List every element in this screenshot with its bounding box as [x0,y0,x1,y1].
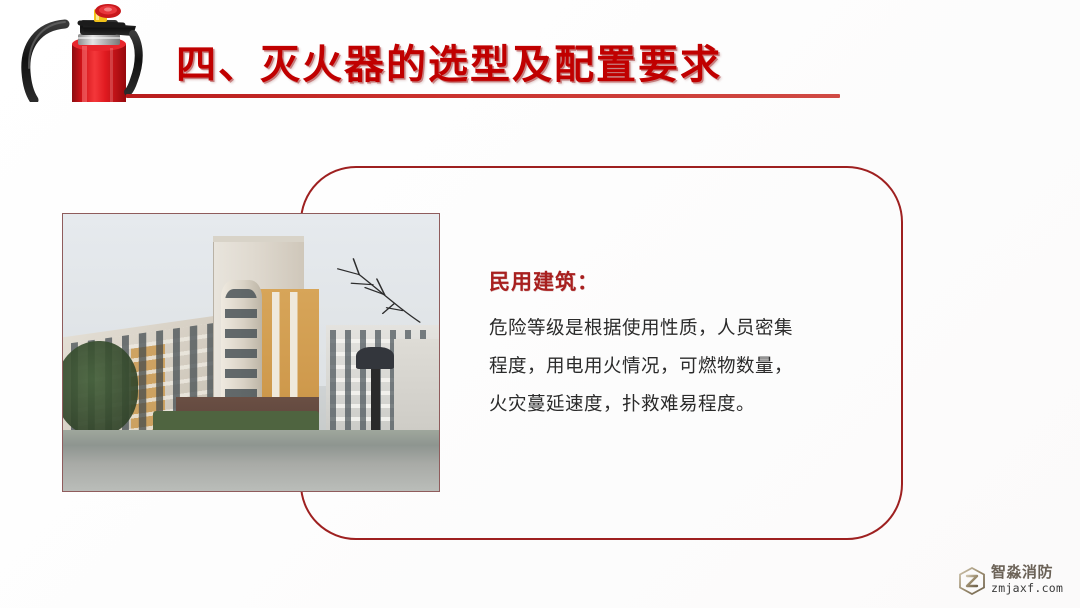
photo-street-lamp-head [356,347,394,369]
watermark: 智淼消防 zmjaxf.com [958,563,1076,601]
section-subheading: 民用建筑： [489,268,859,296]
watermark-brand: 智淼消防 [991,563,1053,581]
photo-bare-branch [326,253,424,325]
body-text-line: 程度，用电用火情况，可燃物数量， [489,348,859,386]
photo-tree-left [63,341,138,435]
text-column: 民用建筑： 危险等级是根据使用性质，人员密集 程度，用电用火情况，可燃物数量， … [489,268,859,424]
page-title: 四、灭火器的选型及配置要求 [176,42,722,88]
body-text-line: 危险等级是根据使用性质，人员密集 [489,310,859,348]
body-text-line: 火灾蔓延速度，扑救难易程度。 [489,386,859,424]
building-photo [62,213,440,492]
title-underline-rule [126,94,840,98]
fire-extinguisher-icon [10,2,160,102]
zhimiao-logo-icon [958,567,986,595]
watermark-url: zmjaxf.com [991,581,1063,595]
presentation-slide: 四、灭火器的选型及配置要求 [0,0,1080,608]
building-photo-scene [63,214,439,491]
slide-header: 四、灭火器的选型及配置要求 [0,0,1080,112]
photo-road [63,430,439,491]
